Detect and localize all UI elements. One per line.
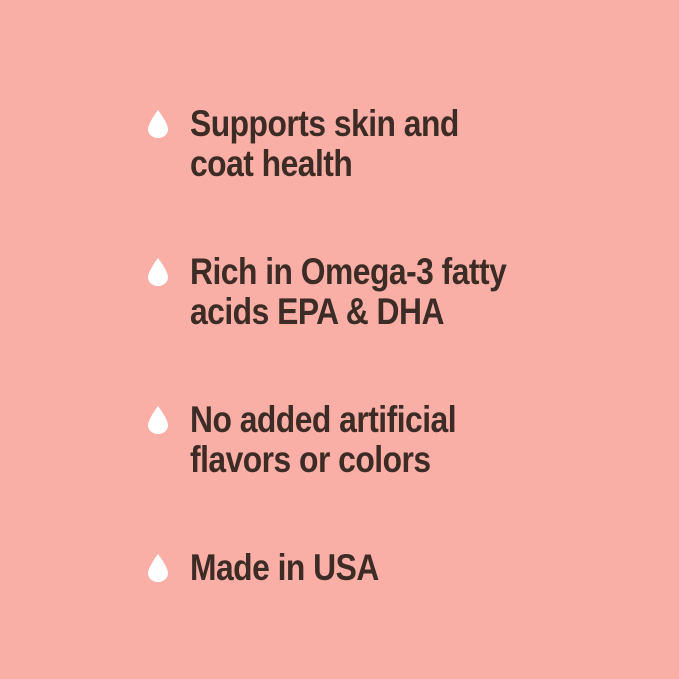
droplet-icon [148,400,168,446]
benefit-item-skin-coat: Supports skin and coat health [148,104,628,184]
benefit-text: Rich in Omega-3 fatty acids EPA & DHA [190,252,567,332]
benefit-text: Made in USA [190,548,567,588]
benefit-item-made-in-usa: Made in USA [148,548,628,594]
benefits-list: Supports skin and coat health Rich in Om… [148,104,628,594]
benefit-item-omega-3: Rich in Omega-3 fatty acids EPA & DHA [148,252,628,332]
benefit-text: Supports skin and coat health [190,104,567,184]
benefit-item-no-artificial: No added artificial flavors or colors [148,400,628,480]
droplet-icon [148,252,168,298]
droplet-icon [148,548,168,594]
benefit-text: No added artificial flavors or colors [190,400,567,480]
droplet-icon [148,104,168,150]
product-benefits-panel: Supports skin and coat health Rich in Om… [0,0,679,679]
